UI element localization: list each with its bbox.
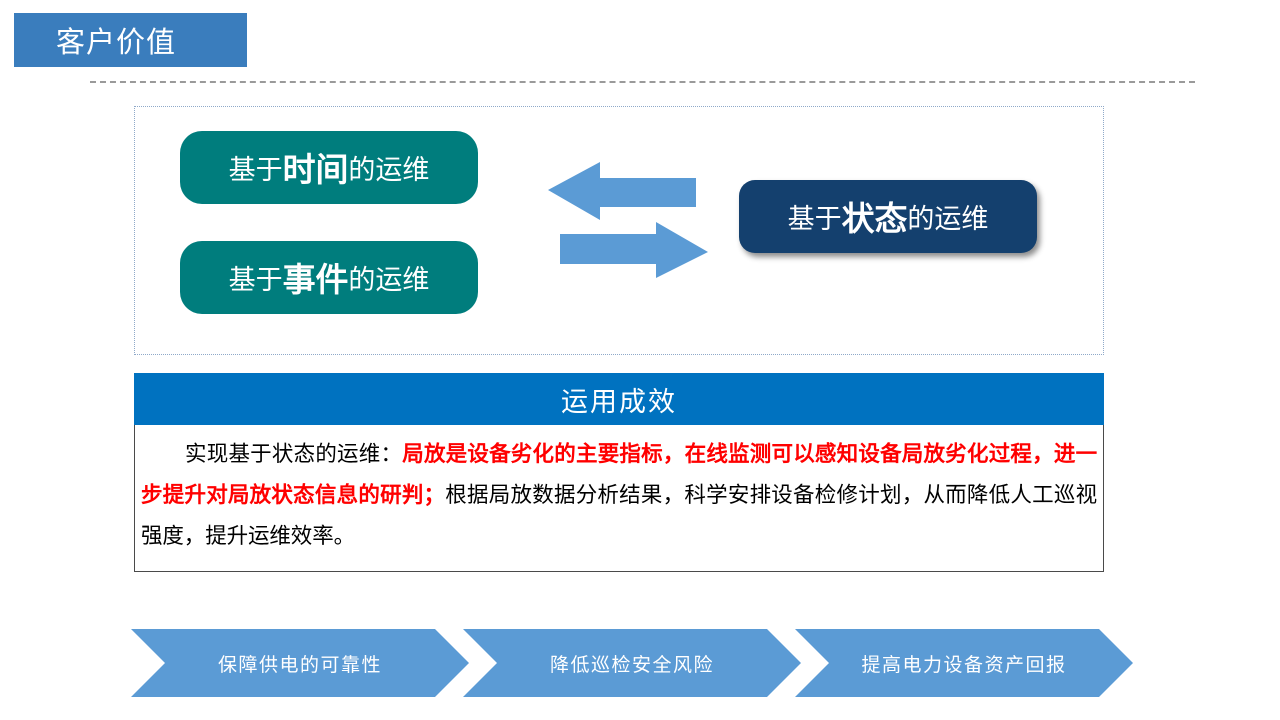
pill-time-prefix: 基于 — [229, 148, 283, 187]
title-divider — [90, 81, 1195, 83]
comparison-diagram-panel: 基于时间的运维 基于事件的运维 基于状态的运维 — [134, 106, 1104, 355]
benefit-chevron-label: 提高电力设备资产回报 — [861, 650, 1066, 677]
benefit-chevron-label: 保障供电的可靠性 — [218, 650, 382, 677]
benefit-chevron-asset-return[interactable]: 提高电力设备资产回报 — [795, 629, 1133, 697]
arrow-left-icon — [548, 162, 696, 220]
pill-state-prefix: 基于 — [788, 197, 842, 236]
result-text-intro: 实现基于状态的运维： — [185, 442, 402, 467]
result-section-header: 运用成效 — [134, 373, 1104, 425]
arrow-right-icon — [560, 222, 708, 278]
slide-title-banner: 客户价值 — [14, 13, 247, 67]
pill-event-based-maintenance: 基于事件的运维 — [180, 241, 478, 314]
pill-time-based-maintenance: 基于时间的运维 — [180, 131, 478, 204]
pill-event-suffix: 的运维 — [348, 258, 429, 297]
benefit-chevron-safety-risk[interactable]: 降低巡检安全风险 — [463, 629, 801, 697]
pill-condition-based-maintenance: 基于状态的运维 — [739, 180, 1037, 253]
pill-state-suffix: 的运维 — [907, 197, 988, 236]
pill-time-suffix: 的运维 — [348, 148, 429, 187]
result-section-body: 实现基于状态的运维：局放是设备劣化的主要指标，在线监测可以感知设备局放劣化过程，… — [134, 425, 1104, 572]
exchange-arrows-group — [548, 160, 708, 280]
pill-state-highlight: 状态 — [842, 193, 908, 240]
page-title: 客户价值 — [56, 19, 176, 61]
result-header-label: 运用成效 — [561, 380, 677, 419]
pill-time-highlight: 时间 — [283, 144, 349, 191]
benefit-chevron-reliability[interactable]: 保障供电的可靠性 — [131, 629, 469, 697]
result-paragraph: 实现基于状态的运维：局放是设备劣化的主要指标，在线监测可以感知设备局放劣化过程，… — [141, 434, 1097, 557]
pill-event-prefix: 基于 — [229, 258, 283, 297]
benefit-chevron-label: 降低巡检安全风险 — [550, 650, 714, 677]
pill-event-highlight: 事件 — [283, 254, 349, 301]
